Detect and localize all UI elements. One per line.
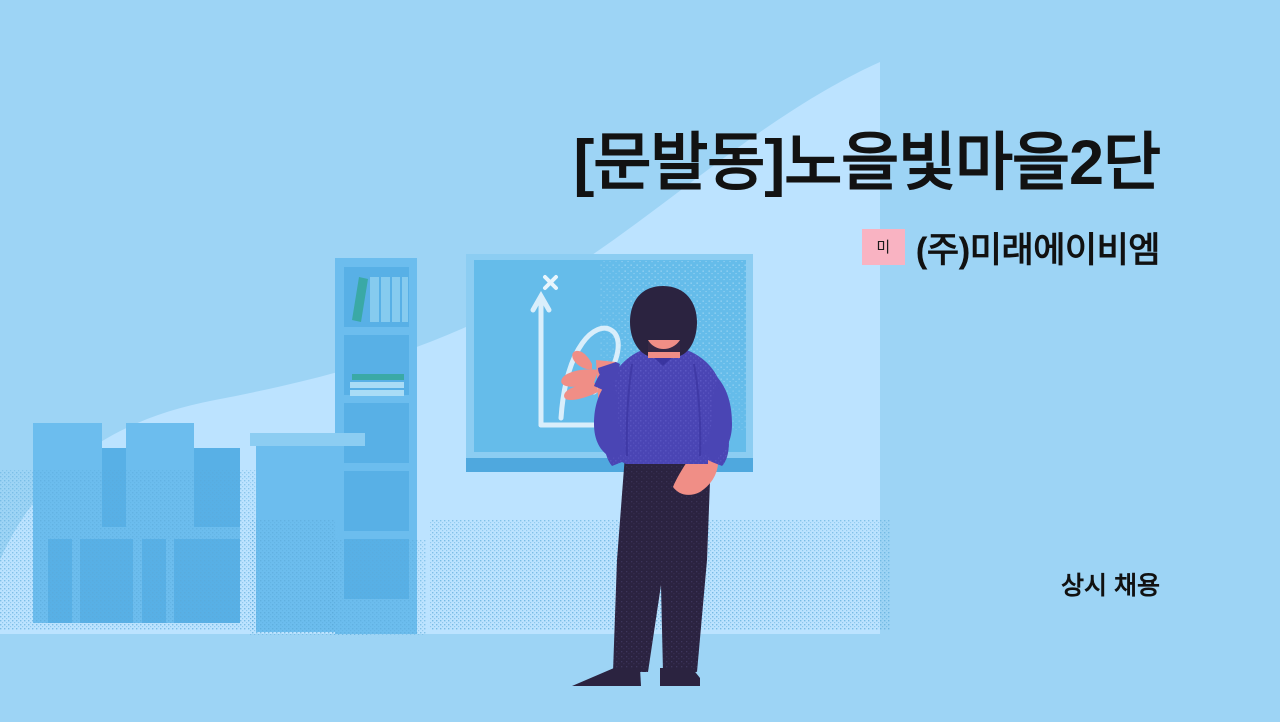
page-title: [문발동]노을빛마을2단 — [400, 128, 1160, 200]
company-name: (주)미래에이비엠 — [916, 222, 1160, 273]
hiring-status-label: 상시 채용 — [1061, 566, 1160, 602]
job-posting-banner: [문발동]노을빛마을2단 미 (주)미래에이비엠 상시 채용 — [0, 0, 1280, 722]
shelf-books-stack — [350, 374, 404, 396]
right-shoe — [660, 668, 700, 686]
illustration-scene — [0, 0, 1280, 722]
company-row: 미 (주)미래에이비엠 — [400, 222, 1160, 273]
bookshelf — [330, 258, 426, 635]
banner-text-block: [문발동]노을빛마을2단 미 (주)미래에이비엠 — [400, 128, 1160, 273]
city-buildings — [0, 423, 260, 630]
company-logo-badge: 미 — [862, 229, 905, 265]
